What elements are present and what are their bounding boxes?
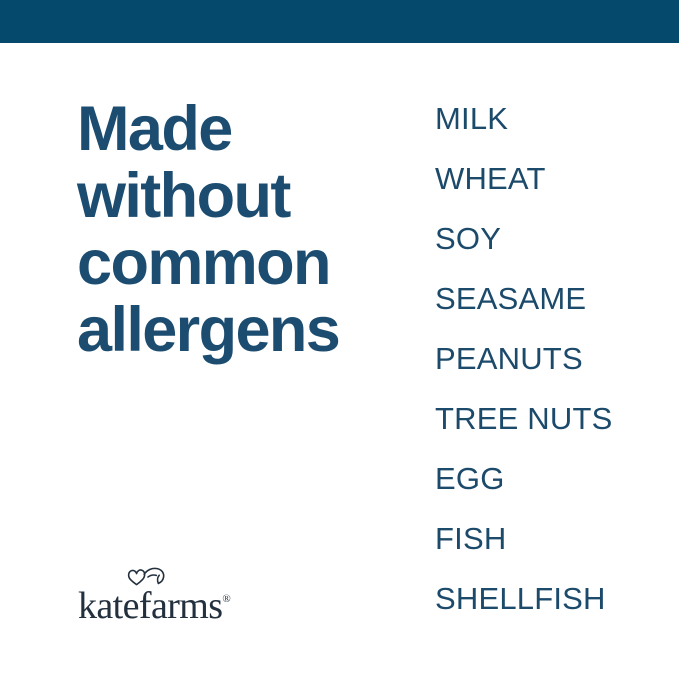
allergen-info-card: Made without common allergens MILK WHEAT…	[0, 0, 679, 679]
list-item: SOY	[435, 216, 675, 276]
list-item: TREE NUTS	[435, 396, 675, 456]
headline-line-2: without	[77, 163, 407, 230]
allergen-list: MILK WHEAT SOY SEASAME PEANUTS TREE NUTS…	[435, 96, 675, 636]
list-item: FISH	[435, 516, 675, 576]
list-item: SHELLFISH	[435, 576, 675, 636]
headline-line-4: allergens	[77, 297, 407, 364]
headline-line-1: Made	[77, 96, 407, 163]
logo-wordmark-text: katefarms	[78, 585, 222, 627]
list-item: WHEAT	[435, 156, 675, 216]
registered-trademark-symbol: ®	[222, 593, 230, 605]
logo-wordmark: katefarms®	[78, 580, 231, 625]
list-item: SEASAME	[435, 276, 675, 336]
brand-logo: katefarms®	[78, 566, 278, 616]
list-item: MILK	[435, 96, 675, 156]
headline-line-3: common	[77, 230, 407, 297]
list-item: PEANUTS	[435, 336, 675, 396]
top-banner-bar	[0, 0, 679, 43]
page-title: Made without common allergens	[77, 96, 407, 364]
list-item: EGG	[435, 456, 675, 516]
